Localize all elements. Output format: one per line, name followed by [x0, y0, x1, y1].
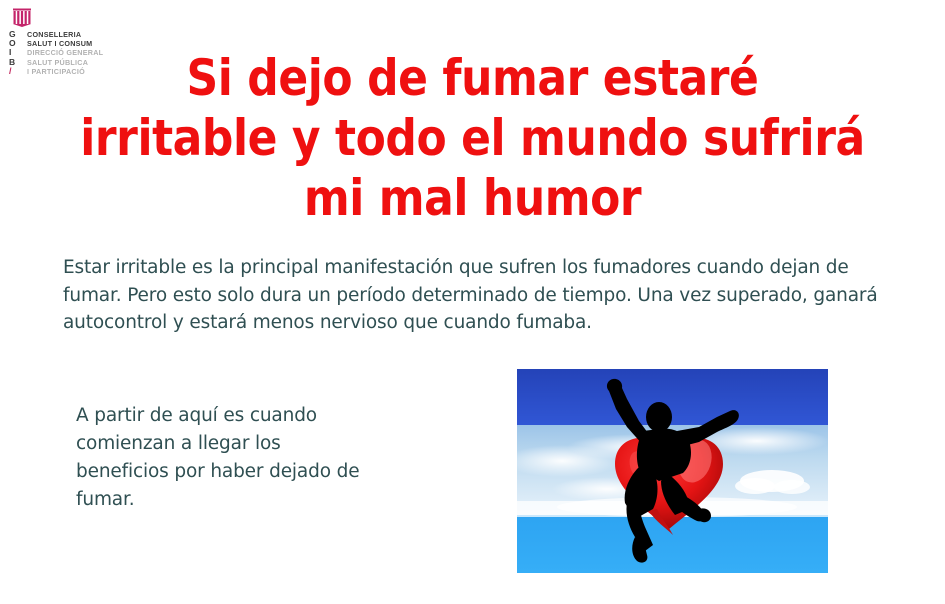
body-paragraph-main: Estar irritable es la principal manifest…: [63, 254, 881, 337]
body-paragraph-secondary: A partir de aquí es cuando comienzan a l…: [76, 402, 476, 514]
secondary-line-1: A partir de aquí es cuando: [76, 402, 476, 430]
secondary-line-4: fumar.: [76, 486, 476, 514]
logo-line-conselleria: CONSELLERIA: [27, 30, 103, 39]
secondary-line-3: beneficios por haber dejado de: [76, 458, 476, 486]
slide-title-line-2: irritable y todo el mundo sufrirá: [57, 108, 889, 168]
slide-title-line-1: Si dejo de fumar estaré: [57, 48, 889, 108]
slide-title-line-3: mi mal humor: [57, 168, 889, 228]
slide-title: Si dejo de fumar estaré irritable y todo…: [0, 48, 945, 228]
secondary-line-2: comienzan a llegar los: [76, 430, 476, 458]
goib-crest-icon: [12, 8, 32, 27]
jumping-man-heart-image: [517, 369, 828, 573]
